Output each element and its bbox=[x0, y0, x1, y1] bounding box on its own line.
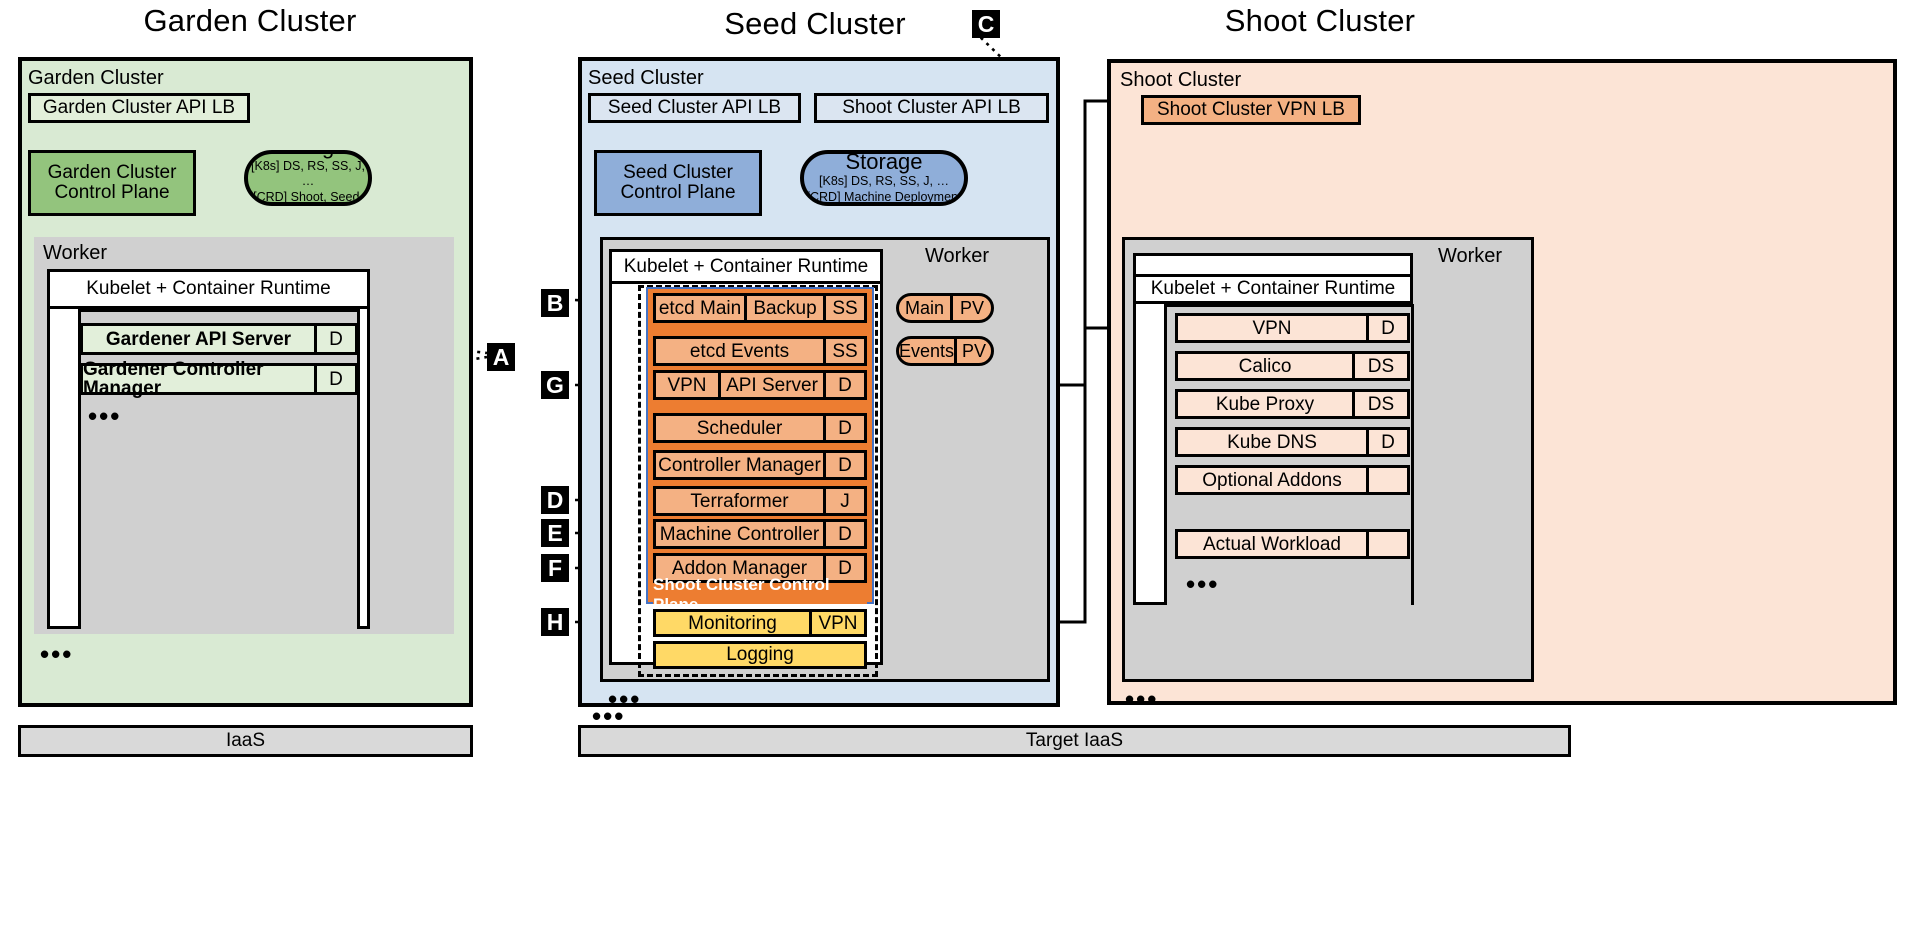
shoot-pod-label: Optional Addons bbox=[1178, 468, 1366, 492]
shoot-pod-calico[interactable]: Calico DS bbox=[1175, 351, 1410, 381]
shoot-pod-label: Calico bbox=[1178, 354, 1352, 378]
callout-badge-h[interactable]: H bbox=[541, 608, 569, 636]
seed-pod-controller-manager[interactable]: Controller Manager D bbox=[653, 450, 867, 480]
seed-storage-line1: [K8s] DS, RS, SS, J, … bbox=[819, 174, 949, 190]
seed-pod-api-server[interactable]: VPN API Server D bbox=[653, 370, 867, 400]
seed-shoot-control-plane-band: Shoot Cluster Control Plane bbox=[653, 585, 867, 604]
shoot-vpn-lb[interactable]: Shoot Cluster VPN LB bbox=[1141, 95, 1361, 125]
garden-kubelet-label: Kubelet + Container Runtime bbox=[47, 269, 370, 309]
garden-pod-gardener-controller-manager[interactable]: Gardener Controller Manager D bbox=[80, 363, 358, 395]
seed-control-plane[interactable]: Seed Cluster Control Plane bbox=[594, 150, 762, 216]
seed-pod-label: API Server bbox=[721, 373, 823, 397]
garden-pod-label: Gardener Controller Manager bbox=[83, 366, 314, 392]
seed-control-plane-line1: Seed Cluster bbox=[623, 163, 733, 183]
callout-badge-b[interactable]: B bbox=[541, 289, 569, 317]
shoot-cluster-label: Shoot Cluster bbox=[1120, 70, 1241, 90]
seed-observability-monitoring[interactable]: Monitoring VPN bbox=[653, 609, 867, 637]
seed-worker-label: Worker bbox=[925, 246, 989, 266]
seed-kubelet-label: Kubelet + Container Runtime bbox=[609, 249, 883, 284]
garden-worker-label: Worker bbox=[43, 243, 107, 263]
garden-storage-line1: [K8s] DS, RS, SS, J, … bbox=[248, 159, 368, 190]
seed-volume-label: Main bbox=[899, 296, 950, 320]
seed-pod-etcd-events[interactable]: etcd Events SS bbox=[653, 336, 867, 366]
seed-pod-label: etcd Main bbox=[656, 296, 744, 320]
seed-storage-line2: [CRD] Machine Deployment bbox=[807, 190, 962, 206]
garden-pod-badge: D bbox=[314, 326, 355, 352]
seed-observability-logging[interactable]: Logging bbox=[653, 641, 867, 669]
seed-pod-label: Terraformer bbox=[656, 489, 823, 513]
shoot-pod-badge: DS bbox=[1352, 392, 1407, 416]
garden-iaas: IaaS bbox=[18, 725, 473, 757]
garden-pods-ellipsis: ••• bbox=[88, 403, 121, 429]
seed-api-lb[interactable]: Seed Cluster API LB bbox=[588, 93, 801, 123]
shoot-pod-kube-proxy[interactable]: Kube Proxy DS bbox=[1175, 389, 1410, 419]
seed-pod-badge: SS bbox=[823, 296, 864, 320]
seed-pod-label: Scheduler bbox=[656, 416, 823, 440]
seed-pod-label: Controller Manager bbox=[656, 453, 823, 477]
callout-badge-a[interactable]: A bbox=[487, 343, 515, 371]
garden-control-plane-line2: Control Plane bbox=[54, 183, 169, 203]
seed-volume-badge: PV bbox=[950, 296, 991, 320]
shoot-pod-label: Kube Proxy bbox=[1178, 392, 1352, 416]
garden-pod-badge: D bbox=[314, 366, 355, 392]
seed-pod-label: etcd Events bbox=[656, 339, 823, 363]
shoot-worker-ellipsis: ••• bbox=[1125, 686, 1158, 712]
shoot-pod-label: Kube DNS bbox=[1178, 430, 1366, 454]
shoot-pods-ellipsis: ••• bbox=[1186, 571, 1219, 597]
seed-volume-events: Events PV bbox=[896, 336, 994, 366]
seed-pod-label: Machine Controller bbox=[656, 522, 823, 546]
seed-storage: Storage [K8s] DS, RS, SS, J, … [CRD] Mac… bbox=[800, 150, 968, 206]
garden-control-plane[interactable]: Garden Cluster Control Plane bbox=[28, 150, 196, 216]
seed-cluster-label: Seed Cluster bbox=[588, 68, 704, 88]
garden-worker-ellipsis: ••• bbox=[40, 641, 73, 667]
callout-badge-f[interactable]: F bbox=[541, 554, 569, 582]
shoot-pod-actual-workload[interactable]: Actual Workload bbox=[1175, 529, 1410, 559]
shoot-pod-badge bbox=[1366, 532, 1407, 556]
garden-storage-line2: [CRD] Shoot, Seed, … bbox=[248, 190, 368, 206]
shoot-pod-label: VPN bbox=[1178, 316, 1366, 340]
shoot-pod-badge bbox=[1366, 468, 1407, 492]
seed-pod-badge: J bbox=[823, 489, 864, 513]
shoot-pod-badge: D bbox=[1366, 316, 1407, 340]
garden-control-plane-line1: Garden Cluster bbox=[48, 163, 177, 183]
shoot-pod-optional-addons[interactable]: Optional Addons bbox=[1175, 465, 1410, 495]
seed-pod-badge: D bbox=[823, 373, 864, 397]
seed-pod-badge: D bbox=[823, 416, 864, 440]
garden-cluster-label: Garden Cluster bbox=[28, 68, 164, 88]
seed-observability-badge: VPN bbox=[809, 612, 864, 634]
seed-pod-terraformer[interactable]: Terraformer J bbox=[653, 486, 867, 516]
page-title-garden: Garden Cluster bbox=[30, 5, 470, 36]
shoot-pod-label: Actual Workload bbox=[1178, 532, 1366, 556]
seed-pod-vpn-sidecar: VPN bbox=[656, 373, 721, 397]
seed-pod-machine-controller[interactable]: Machine Controller D bbox=[653, 519, 867, 549]
seed-control-plane-line2: Control Plane bbox=[620, 183, 735, 203]
shoot-cluster-api-lb[interactable]: Shoot Cluster API LB bbox=[814, 93, 1049, 123]
shoot-pod-vpn[interactable]: VPN D bbox=[1175, 313, 1410, 343]
seed-pod-badge: SS bbox=[823, 339, 864, 363]
shoot-kubelet-label: Kubelet + Container Runtime bbox=[1133, 274, 1413, 304]
shoot-pod-badge: DS bbox=[1352, 354, 1407, 378]
callout-badge-d[interactable]: D bbox=[541, 486, 569, 514]
seed-pod-etcd-main[interactable]: etcd Main Backup SS bbox=[653, 293, 867, 323]
seed-pod-scheduler[interactable]: Scheduler D bbox=[653, 413, 867, 443]
callout-badge-g[interactable]: G bbox=[541, 371, 569, 399]
garden-pod-label: Gardener API Server bbox=[83, 326, 314, 352]
seed-observability-label: Monitoring bbox=[656, 612, 809, 634]
callout-badge-c[interactable]: C bbox=[972, 10, 1000, 38]
seed-pod-badge: D bbox=[823, 522, 864, 546]
garden-pod-area bbox=[78, 309, 360, 629]
seed-storage-title: Storage bbox=[845, 150, 922, 174]
seed-volume-main: Main PV bbox=[896, 293, 994, 323]
callout-badge-e[interactable]: E bbox=[541, 519, 569, 547]
garden-storage-title: Storage bbox=[269, 150, 346, 159]
seed-pod-badge: D bbox=[823, 453, 864, 477]
shoot-pod-kube-dns[interactable]: Kube DNS D bbox=[1175, 427, 1410, 457]
garden-api-lb[interactable]: Garden Cluster API LB bbox=[28, 93, 250, 123]
garden-pod-gardener-api-server[interactable]: Gardener API Server D bbox=[80, 323, 358, 355]
seed-pod-mid: Backup bbox=[744, 296, 823, 320]
seed-volume-badge: PV bbox=[954, 339, 991, 363]
page-title-shoot: Shoot Cluster bbox=[1100, 5, 1540, 36]
shoot-worker-label: Worker bbox=[1438, 246, 1502, 266]
shoot-pod-badge: D bbox=[1366, 430, 1407, 454]
garden-storage: Storage [K8s] DS, RS, SS, J, … [CRD] Sho… bbox=[244, 150, 372, 206]
seed-iaas: Target IaaS bbox=[578, 725, 1571, 757]
seed-volume-label: Events bbox=[899, 339, 954, 363]
